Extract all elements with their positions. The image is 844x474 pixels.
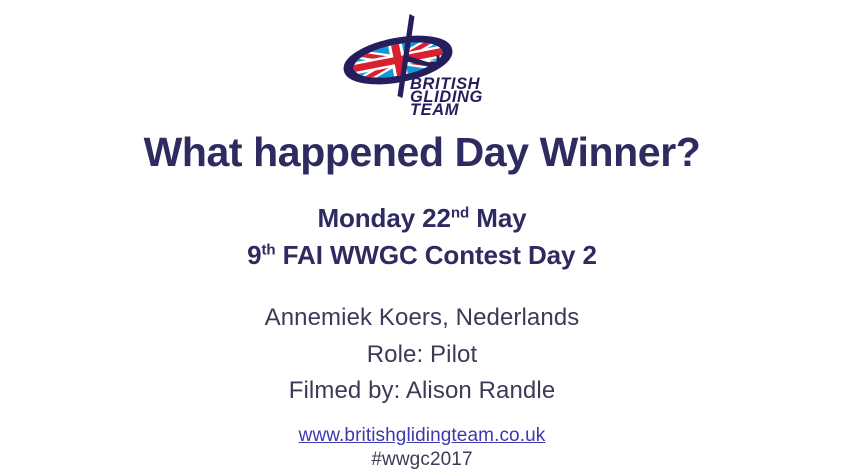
footer: www.britishglidingteam.co.uk #wwgc2017: [0, 424, 844, 472]
presentation-slide: BRITISH GLIDING TEAM What happened Day W…: [0, 0, 844, 474]
british-gliding-team-logo: BRITISH GLIDING TEAM: [336, 8, 508, 118]
subtitle-date-ordinal: nd: [451, 204, 469, 221]
footer-link-row: www.britishglidingteam.co.uk: [0, 424, 844, 448]
credit-pilot-name: Annemiek Koers, Nederlands: [0, 300, 844, 337]
footer-hashtag: #wwgc2017: [0, 448, 844, 473]
logo-wordmark: BRITISH GLIDING TEAM: [410, 75, 483, 118]
logo-block: BRITISH GLIDING TEAM: [0, 8, 844, 120]
website-link[interactable]: www.britishglidingteam.co.uk: [299, 424, 546, 448]
subtitle-contest-ordinal: th: [262, 242, 276, 259]
slide-title: What happened Day Winner?: [0, 130, 844, 175]
subtitle-date: Monday 22nd May: [0, 200, 844, 237]
credit-filmed-by: Filmed by: Alison Randle: [0, 373, 844, 410]
subtitle-contest-tail: FAI WWGC Contest Day 2: [276, 240, 597, 270]
subtitle-contest-main: 9: [247, 240, 261, 270]
subtitle-date-main: Monday 22: [317, 203, 450, 233]
credits-group: Annemiek Koers, Nederlands Role: Pilot F…: [0, 300, 844, 410]
subtitle-contest: 9th FAI WWGC Contest Day 2: [0, 237, 844, 274]
slide-subtitle-group: Monday 22nd May 9th FAI WWGC Contest Day…: [0, 200, 844, 274]
subtitle-date-tail: May: [469, 203, 526, 233]
logo-wordmark-line-3: TEAM: [410, 101, 460, 118]
logo-graphic: BRITISH GLIDING TEAM: [336, 8, 508, 118]
credit-role: Role: Pilot: [0, 337, 844, 374]
